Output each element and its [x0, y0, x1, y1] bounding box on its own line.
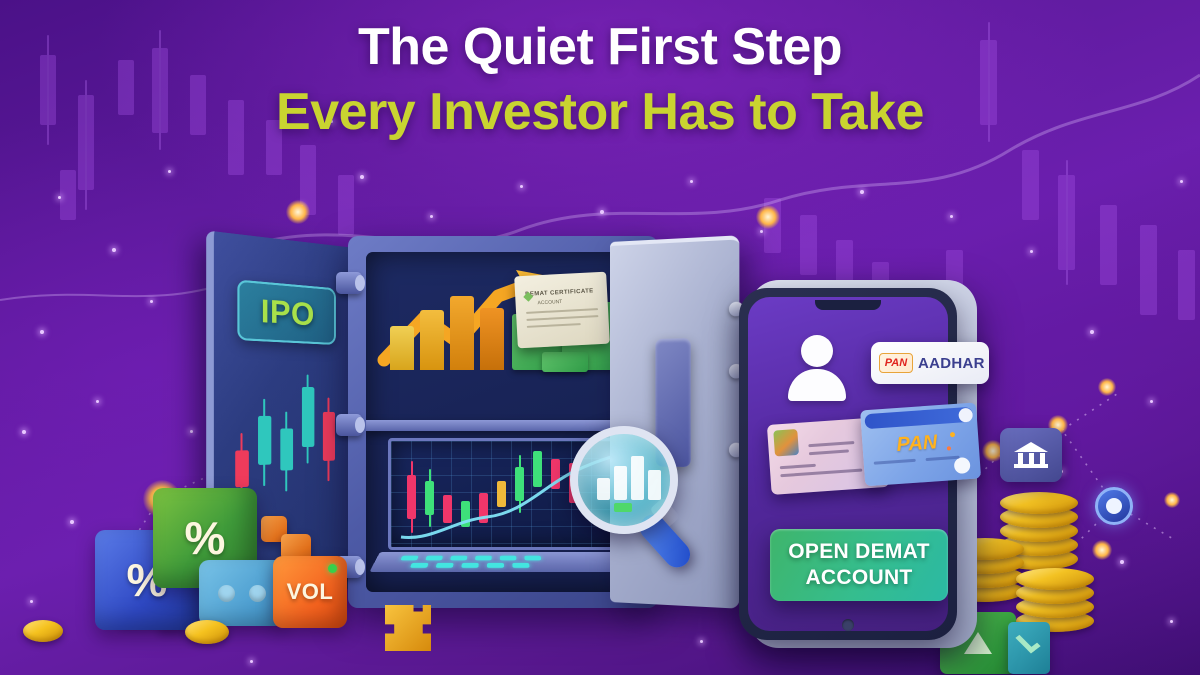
network-node-icon	[1095, 487, 1133, 525]
magnifier-lens	[570, 426, 678, 534]
pan-card-header-bar	[864, 407, 973, 429]
ipo-badge: IPO	[237, 280, 336, 346]
volume-cube-label: VOL	[287, 579, 334, 605]
pan-card-logo-mark: PAN	[896, 431, 938, 457]
volume-cube-orange: VOL	[273, 556, 347, 628]
vault-cavity: DEMAT CERTIFICATE ACCOUNT	[366, 252, 640, 592]
id-documents-group: PAN	[766, 403, 971, 501]
avatar-body	[788, 369, 846, 401]
poster-canvas: The Quiet First Step Every Investor Has …	[0, 0, 1200, 675]
pan-card-circle-top	[958, 408, 973, 423]
pan-card-dot-1	[950, 432, 955, 437]
open-demat-account-button[interactable]: OPEN DEMAT ACCOUNT	[770, 529, 948, 601]
india-emblem-icon	[773, 429, 799, 457]
check-icon	[1015, 631, 1040, 654]
vault-bar-4	[480, 308, 504, 370]
pan-card-dot-2	[947, 446, 951, 450]
percentage-blocks-cluster: % % VOL	[95, 468, 335, 648]
pan-card[interactable]: PAN	[860, 402, 981, 486]
gold-coin-side	[23, 620, 63, 642]
magnifier-highlight-chip	[614, 503, 632, 512]
smartphone-device: OPEN DEMAT ACCOUNT PAN AADHAR	[735, 280, 985, 650]
pan-aadhar-badge[interactable]: PAN AADHAR	[871, 342, 989, 384]
gold-coin-front	[185, 620, 229, 644]
pan-logo-icon: PAN	[879, 353, 913, 373]
node-icon-core	[1106, 498, 1122, 514]
phone-notch	[815, 300, 881, 310]
magnifier-bar-2	[614, 466, 627, 500]
pan-card-line-1	[874, 459, 916, 465]
cube-dot-left	[218, 585, 235, 602]
headline-line-2: Every Investor Has to Take	[0, 85, 1200, 140]
demat-certificate: DEMAT CERTIFICATE ACCOUNT	[514, 272, 610, 349]
status-led-icon	[328, 564, 337, 573]
bank-glyph	[1014, 442, 1048, 468]
vault-bar-1	[390, 326, 414, 370]
aadhar-badge-label: AADHAR	[918, 355, 985, 372]
magnifier-bar-3	[631, 456, 644, 500]
percent-cube-green-label: %	[185, 511, 226, 565]
vault-bar-3	[450, 296, 474, 370]
verified-check-block	[1008, 622, 1050, 674]
certificate-title: DEMAT CERTIFICATE	[525, 288, 599, 298]
avatar-head	[801, 335, 833, 367]
pan-card-circle-bottom	[954, 457, 971, 474]
vault-bolt-middle	[336, 414, 362, 436]
vault-bolt-top	[336, 272, 362, 294]
headline: The Quiet First Step Every Investor Has …	[0, 20, 1200, 139]
certificate-subtitle: ACCOUNT	[537, 297, 599, 306]
laptop-keyboard	[369, 552, 640, 572]
coin-stacks-cluster	[960, 500, 1190, 675]
magnifier-bar-1	[597, 478, 610, 500]
cta-line-2: ACCOUNT	[805, 565, 912, 591]
money-stack-3	[542, 352, 588, 372]
ipo-badge-label: IPO	[261, 292, 315, 333]
vault-bar-2	[420, 310, 444, 370]
cta-line-1: OPEN DEMAT	[788, 539, 929, 565]
cube-dot-right	[249, 585, 266, 602]
bank-icon	[1000, 428, 1062, 482]
phone-home-button[interactable]	[842, 619, 854, 631]
magnifying-glass-icon	[570, 426, 678, 534]
headline-line-1: The Quiet First Step	[0, 20, 1200, 75]
magnifier-bar-4	[648, 470, 661, 500]
user-avatar-icon	[788, 335, 846, 403]
